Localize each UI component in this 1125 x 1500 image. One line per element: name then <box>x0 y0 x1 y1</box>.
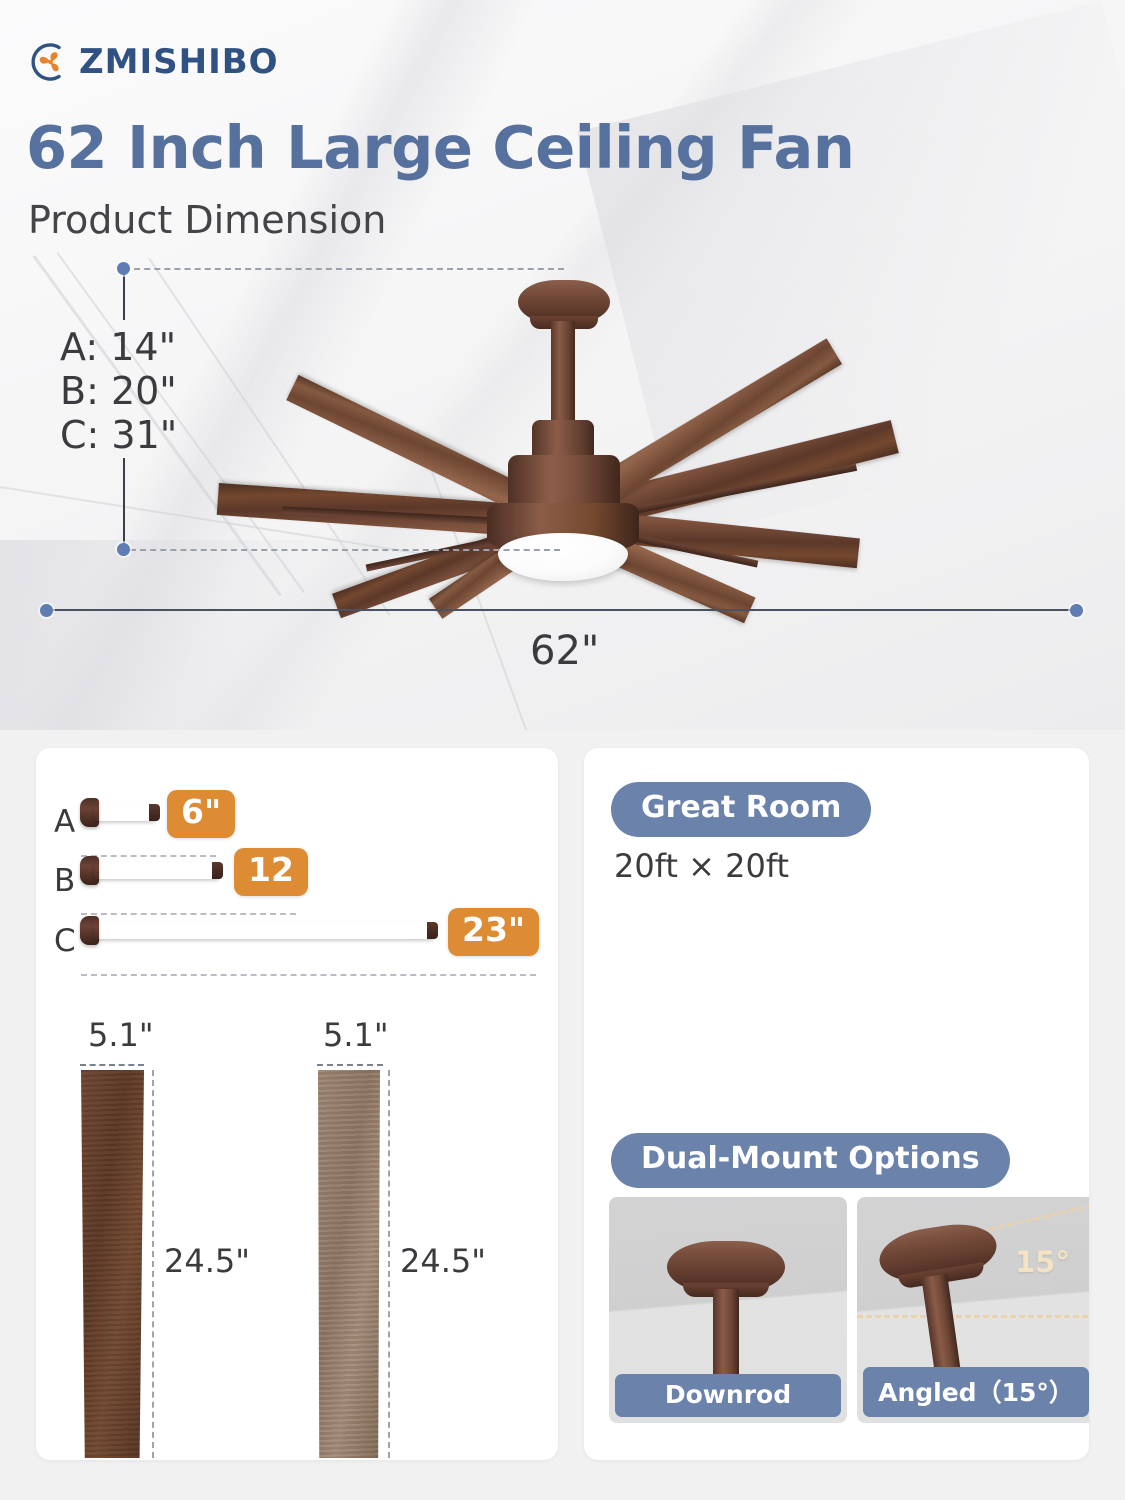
mount-option-angled[interactable]: 15° Angled（15°） <box>857 1197 1089 1423</box>
blade1-width-guide <box>80 1064 144 1066</box>
downrod-letter-c: C <box>54 923 76 959</box>
page-subtitle: Product Dimension <box>28 198 386 242</box>
height-label-c: C: 31" <box>60 413 177 457</box>
page-title: 62 Inch Large Ceiling Fan <box>26 113 854 182</box>
downrod-badge-b: 12 <box>234 848 308 896</box>
blade2-length-label: 24.5" <box>400 1242 486 1280</box>
blade1-length-guide <box>152 1070 154 1458</box>
great-room-badge: Great Room <box>611 782 871 837</box>
product-dimension-infographic: ZMISHIBO 62 Inch Large Ceiling Fan Produ… <box>0 0 1125 1500</box>
downrod-letter-a: A <box>54 804 75 840</box>
blade2-length-guide <box>388 1070 390 1458</box>
downrod-canopy-icon <box>667 1241 785 1293</box>
brand-name: ZMISHIBO <box>79 42 279 82</box>
downrod-and-blade-card: A 6" B 12 C 23" 5.1" 24.5" 5.1" 24.5" <box>36 748 558 1460</box>
downrod-divider <box>81 855 216 857</box>
dimension-dot <box>1070 604 1083 617</box>
mount-caption-angled: Angled（15°） <box>863 1367 1089 1417</box>
fan-led-light <box>498 533 628 581</box>
downrod-tip-c <box>427 922 438 939</box>
blade1-length-label: 24.5" <box>164 1242 250 1280</box>
dual-mount-badge: Dual-Mount Options <box>611 1133 1010 1188</box>
fan-downrod <box>551 321 575 426</box>
blade1-image <box>81 1070 144 1458</box>
blade1-width-label: 5.1" <box>88 1016 154 1054</box>
downrod-tip-a <box>149 804 160 821</box>
dimension-dot <box>40 604 53 617</box>
brand-logo: ZMISHIBO <box>28 40 279 84</box>
dimension-line-vertical <box>123 272 125 320</box>
blade2-width-guide <box>317 1064 383 1066</box>
downrod-shaft-a <box>94 804 156 821</box>
fan-canopy <box>518 280 610 324</box>
room-and-mount-card: Great Room 20ft × 20ft Dual-Mount Option… <box>584 748 1089 1460</box>
downrod-shaft-b <box>94 862 219 879</box>
downrod-divider <box>81 974 536 976</box>
width-dimension-label: 62" <box>530 628 599 674</box>
blade2-width-label: 5.1" <box>323 1016 389 1054</box>
height-label-b: B: 20" <box>60 369 177 413</box>
dimension-dot <box>117 262 130 275</box>
fan-propeller-icon <box>28 40 72 84</box>
downrod-letter-b: B <box>54 863 75 899</box>
mount-option-downrod[interactable]: Downrod <box>609 1197 847 1423</box>
room-size-label: 20ft × 20ft <box>614 847 789 885</box>
angle-value-label: 15° <box>1015 1245 1070 1279</box>
angle-reference-line <box>857 1315 1089 1318</box>
downrod-shaft-c <box>94 922 434 939</box>
downrod-tip-b <box>212 862 223 879</box>
downrod-badge-c: 23" <box>448 908 539 956</box>
downrod-badge-a: 6" <box>167 790 235 838</box>
height-dimension-labels: A: 14" B: 20" C: 31" <box>60 325 177 457</box>
mount-caption-downrod: Downrod <box>615 1374 841 1417</box>
dimension-dot <box>117 543 130 556</box>
dimension-line-vertical <box>123 458 125 548</box>
width-dimension-line <box>46 609 1076 611</box>
dimension-guide-bottom <box>130 549 560 551</box>
height-label-a: A: 14" <box>60 325 177 369</box>
downrod-divider <box>81 913 296 915</box>
blade2-image <box>318 1070 380 1458</box>
hero-section: ZMISHIBO 62 Inch Large Ceiling Fan Produ… <box>0 0 1125 730</box>
dimension-guide-top <box>124 268 564 270</box>
